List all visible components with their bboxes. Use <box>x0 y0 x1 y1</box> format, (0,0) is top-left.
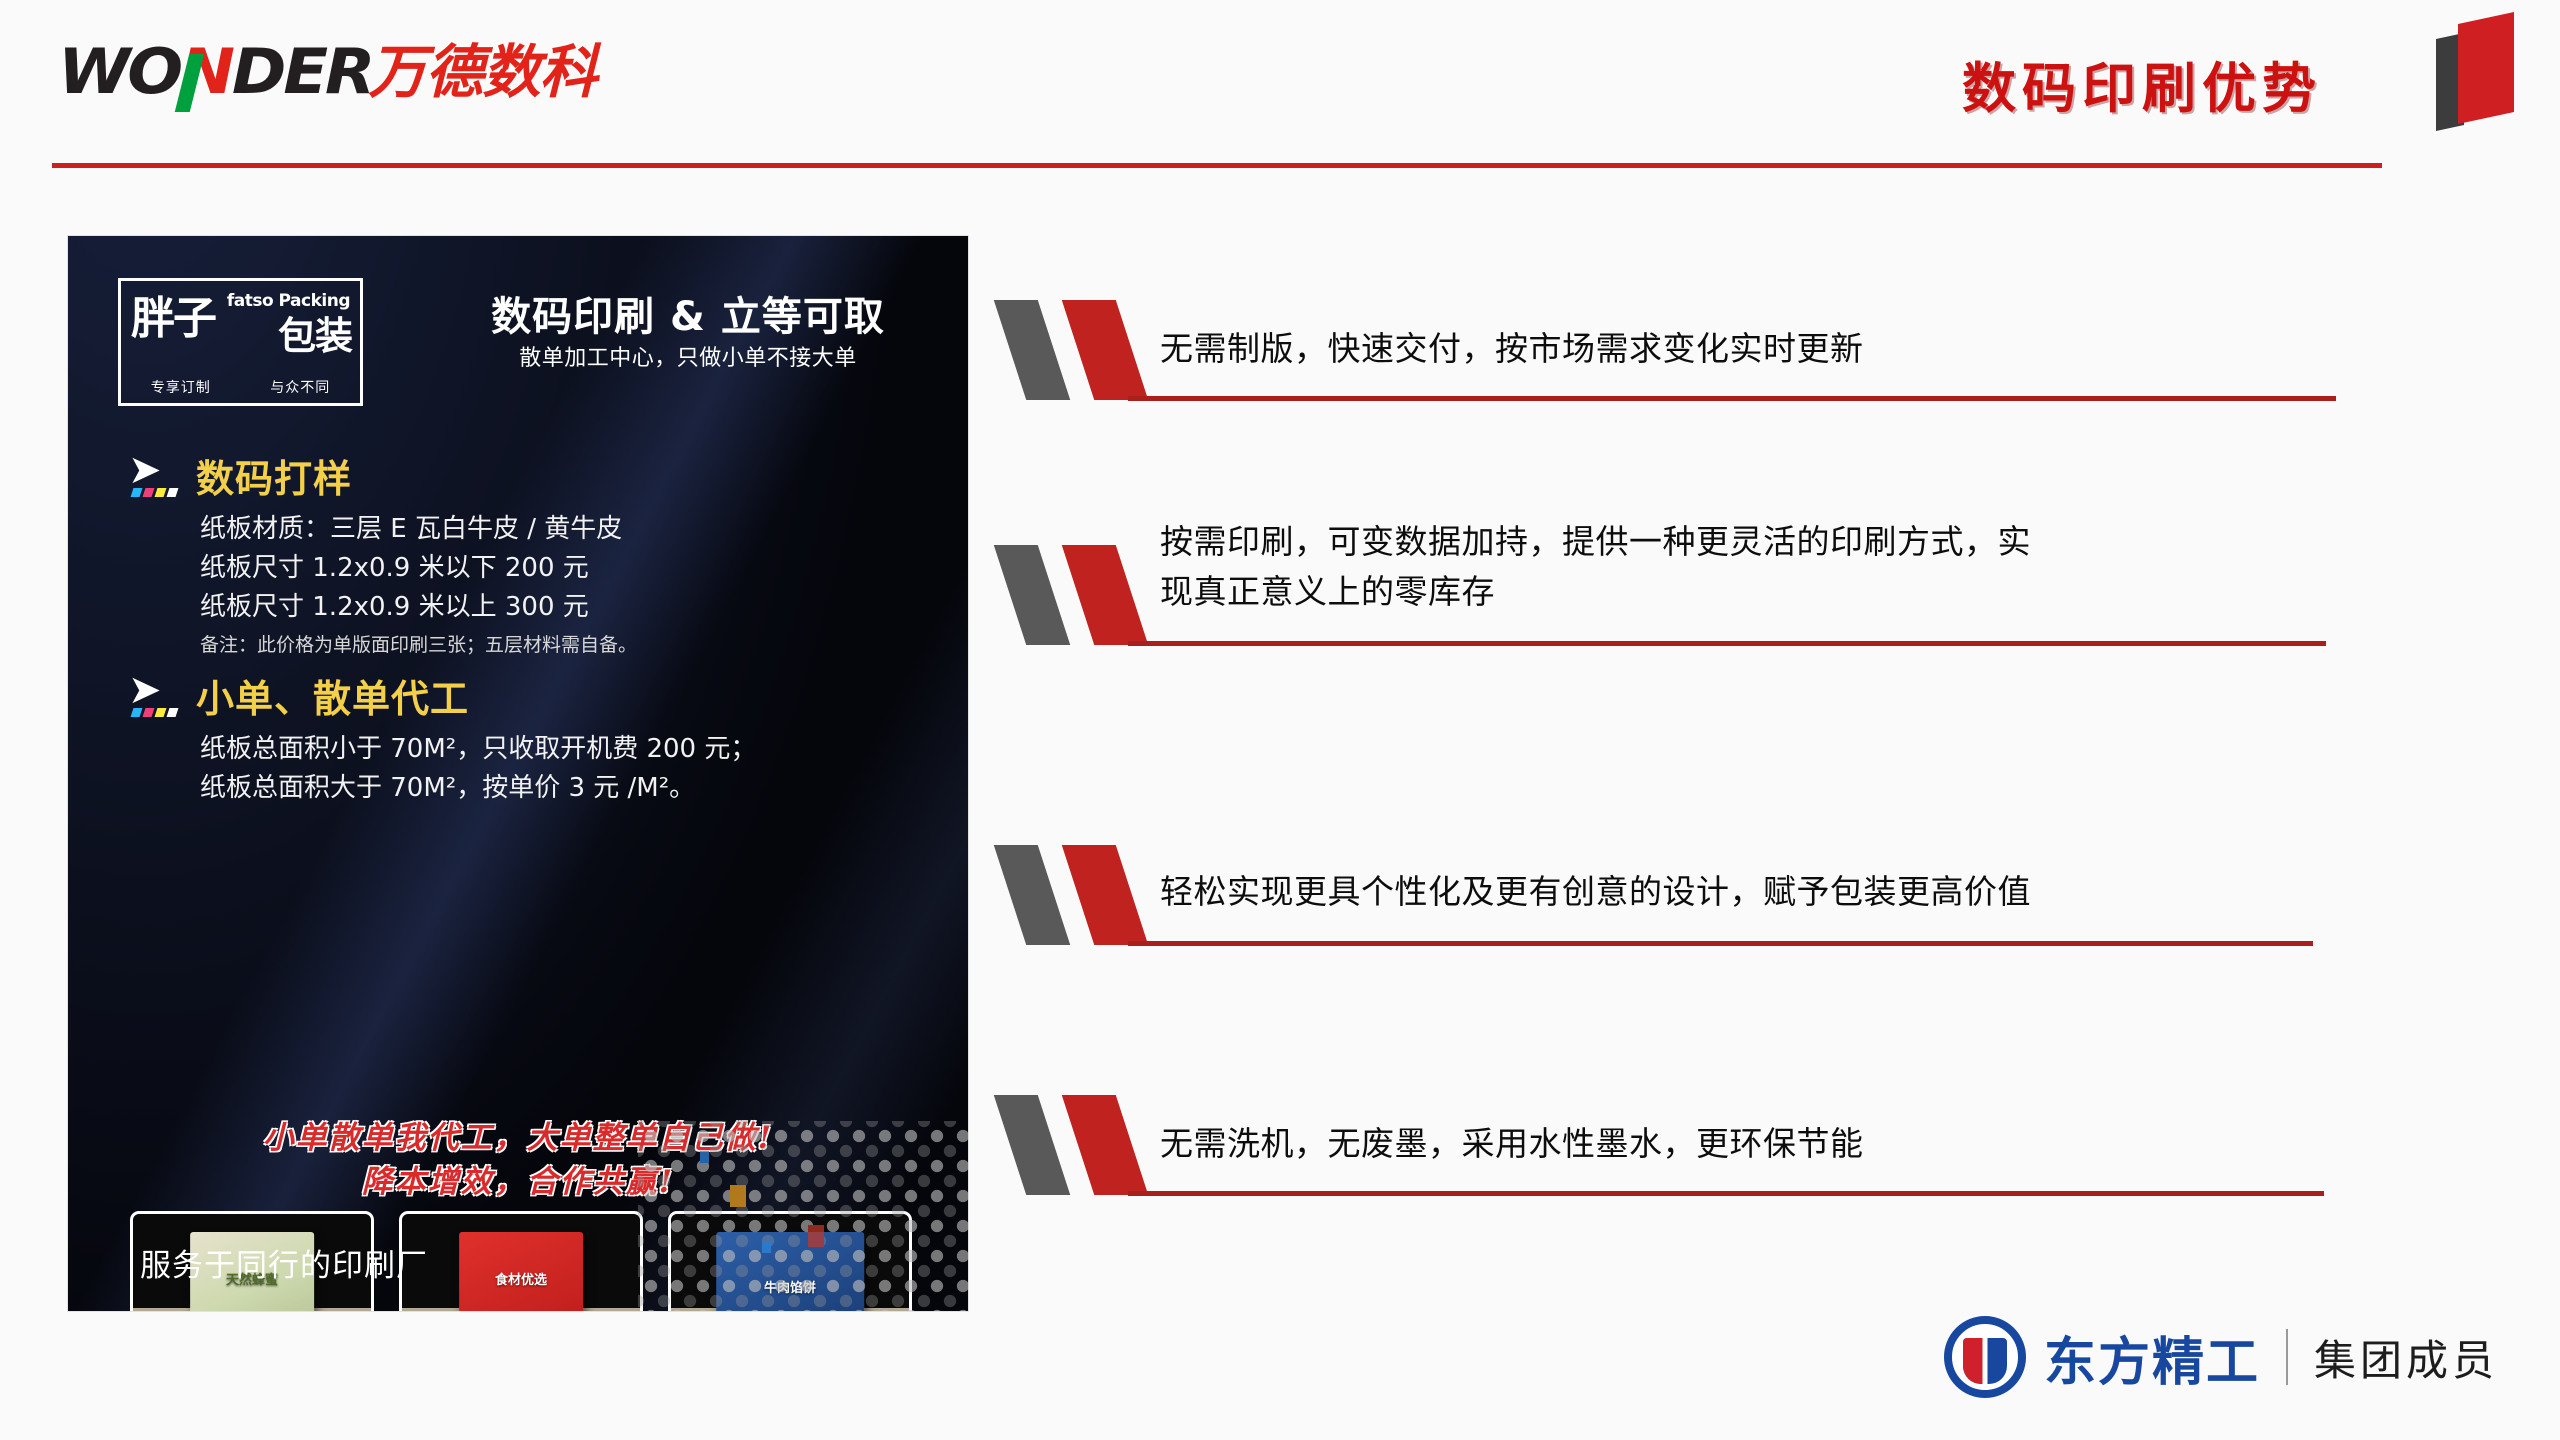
benefit-text-line: 无需洗机，无废墨，采用水性墨水，更环保节能 <box>1160 1119 1864 1169</box>
benefit-text-line: 轻松实现更具个性化及更有创意的设计，赋予包装更高价值 <box>1160 867 2031 917</box>
bullet-red-slab-icon <box>1062 845 1148 945</box>
fatso-en-name: fatso Packing <box>227 291 350 311</box>
header-divider <box>52 163 2382 168</box>
section-line: 纸板尺寸 1.2x0.9 米以上 300 元 <box>200 589 918 626</box>
product-photo: 食材优选 <box>399 1211 643 1311</box>
promo-poster-image: 胖子 fatso Packing 包装 专享订制 与众不同 数码印刷 & 立等可… <box>68 236 968 1311</box>
section-line: 纸板材质：三层 E 瓦白牛皮 / 黄牛皮 <box>200 511 918 548</box>
bullet-gray-slab-icon <box>994 545 1070 645</box>
bullet-gray-slab-icon <box>994 1095 1070 1195</box>
dongfang-emblem-icon <box>1944 1316 2026 1398</box>
bullet-underline <box>1128 396 2336 401</box>
page-header: WONDER 万德数科 数码印刷优势 <box>0 0 2560 180</box>
benefit-text-line: 无需制版，快速交付，按市场需求变化实时更新 <box>1160 324 1864 374</box>
benefit-text: 无需制版，快速交付，按市场需求变化实时更新 <box>1160 324 1864 374</box>
emblem-bar <box>1982 1332 1987 1390</box>
member-label: 集团成员 <box>2314 1327 2498 1388</box>
wonder-latin-pre: WO <box>58 35 180 108</box>
company-name: 东方精工 <box>2044 1320 2260 1395</box>
section-line: 纸板总面积小于 70M²，只收取开机费 200 元； <box>200 731 918 768</box>
poster-section-digital-proofing: ➤ 数码打样 纸板材质：三层 E 瓦白牛皮 / 黄牛皮 纸板尺寸 1.2x0.9… <box>128 448 918 661</box>
benefit-text-line: 按需印刷，可变数据加持，提供一种更灵活的印刷方式，实 <box>1160 517 2031 567</box>
wonder-wordmark: WONDER 万德数科 <box>58 40 597 104</box>
wonder-latin-text: WONDER <box>58 41 372 103</box>
bullet-underline <box>1128 1191 2324 1196</box>
bullet-underline <box>1128 941 2313 946</box>
benefit-text-line: 现真正意义上的零库存 <box>1160 567 2031 617</box>
poster-headline: 数码印刷 & 立等可取 <box>468 284 908 342</box>
product-label: 食材优选 <box>459 1269 583 1288</box>
fatso-taglines: 专享订制 与众不同 <box>121 377 360 397</box>
section-line: 纸板尺寸 1.2x0.9 米以下 200 元 <box>200 550 918 587</box>
chevron-right-icon: ➤ <box>128 672 180 712</box>
bullet-underline <box>1128 641 2326 646</box>
wonder-latin-post: DER <box>232 35 373 108</box>
fatso-packing-logo: 胖子 fatso Packing 包装 专享订制 与众不同 <box>118 278 363 406</box>
poster-footer-text: 服务于同行的印刷厂 <box>140 1240 428 1285</box>
section-note: 备注：此价格为单版面印刷三张；五层材料需自备。 <box>200 632 918 659</box>
footer-divider <box>2286 1329 2288 1385</box>
page-title: 数码印刷优势 <box>1962 44 2322 123</box>
bullet-gray-slab-icon <box>994 845 1070 945</box>
section-title: 数码打样 <box>196 448 918 503</box>
fatso-tagline-left: 专享订制 <box>151 377 211 397</box>
chevron-right-icon: ➤ <box>128 452 180 492</box>
corner-red-shape <box>2458 12 2514 124</box>
benefit-text: 按需印刷，可变数据加持，提供一种更灵活的印刷方式，实 现真正意义上的零库存 <box>1160 517 2031 616</box>
cmyk-dots-icon <box>132 708 177 717</box>
poster-section-small-orders: ➤ 小单、散单代工 纸板总面积小于 70M²，只收取开机费 200 元； 纸板总… <box>128 668 918 809</box>
bullet-red-slab-icon <box>1062 1095 1148 1195</box>
fatso-packaging-label: 包装 <box>278 317 352 355</box>
corner-decoration-icon <box>2436 10 2532 130</box>
section-title: 小单、散单代工 <box>196 668 918 723</box>
section-line: 纸板总面积大于 70M²，按单价 3 元 /M²。 <box>200 770 918 807</box>
bullet-gray-slab-icon <box>994 300 1070 400</box>
benefit-text: 无需洗机，无废墨，采用水性墨水，更环保节能 <box>1160 1119 1864 1169</box>
poster-subheadline: 散单加工中心，只做小单不接大单 <box>468 340 908 372</box>
fatso-cn-name: 胖子 <box>131 297 215 341</box>
wonder-brand-logo: WONDER 万德数科 <box>58 36 597 104</box>
product-box: 食材优选 <box>459 1232 583 1311</box>
group-member-logo: 东方精工 集团成员 <box>1944 1316 2498 1398</box>
bullet-red-slab-icon <box>1062 545 1148 645</box>
fatso-tagline-right: 与众不同 <box>270 377 330 397</box>
wonder-chinese-text: 万德数科 <box>369 43 597 101</box>
benefit-text: 轻松实现更具个性化及更有创意的设计，赋予包装更高价值 <box>1160 867 2031 917</box>
cmyk-dots-icon <box>132 488 177 497</box>
bullet-red-slab-icon <box>1062 300 1148 400</box>
halftone-dots-decoration <box>638 1121 968 1311</box>
